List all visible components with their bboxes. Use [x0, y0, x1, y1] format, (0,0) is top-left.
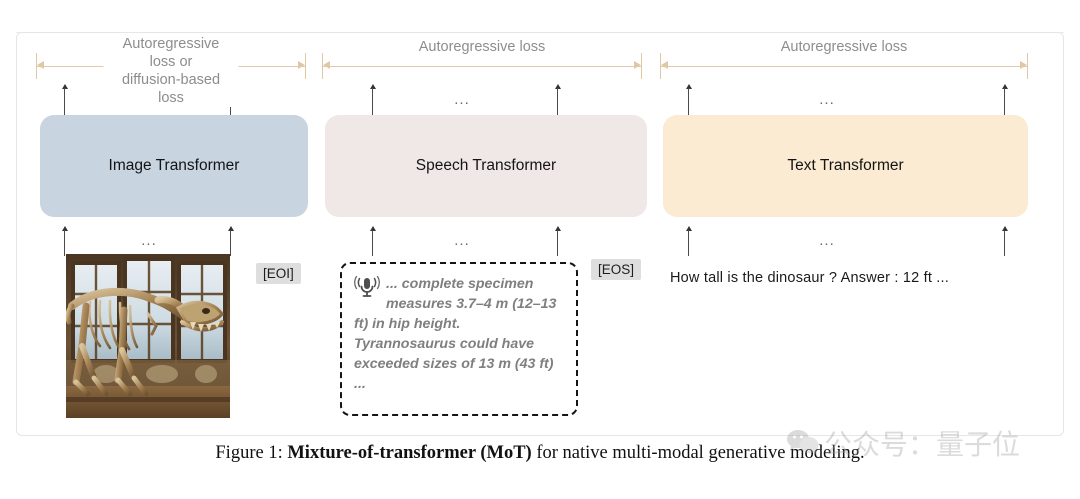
- bracket-text: [660, 53, 1028, 79]
- block-text-transformer[interactable]: Text Transformer: [663, 115, 1028, 217]
- token-end-of-image: [EOI]: [256, 263, 301, 284]
- bracket-arrowhead-right: [1020, 61, 1027, 69]
- loss-label-speech: Autoregressive loss: [412, 38, 553, 56]
- text-token-sequence: How tall is the dinosaur ? Answer : 12 f…: [670, 270, 949, 286]
- bracket-right-cap: [1027, 53, 1028, 79]
- block-speech-transformer[interactable]: Speech Transformer: [325, 115, 647, 217]
- arrow-shaft: [688, 88, 689, 115]
- arrow-shaft: [1004, 230, 1005, 256]
- figure-caption: Figure 1: Mixture-of-transformer (MoT) f…: [0, 443, 1080, 464]
- caption-bold: Mixture-of-transformer (MoT): [287, 443, 531, 463]
- arrow-shaft: [372, 88, 373, 115]
- ellipsis-speech-top: ...: [454, 91, 470, 108]
- bracket-arrowhead-left: [661, 61, 668, 69]
- loss-span-image: Autoregressive loss or diffusion-based l…: [36, 38, 306, 82]
- bracket-speech: [322, 53, 642, 79]
- loss-span-speech: Autoregressive loss: [322, 38, 642, 82]
- ellipsis-text-top: ...: [819, 91, 835, 108]
- block-speech-transformer-label: Speech Transformer: [416, 157, 556, 175]
- bracket-line: [661, 66, 1027, 67]
- bracket-arrowhead-left: [37, 61, 44, 69]
- microphone-icon: [354, 274, 380, 300]
- loss-span-text: Autoregressive loss: [660, 38, 1028, 82]
- arrow-shaft: [64, 88, 65, 115]
- loss-label-text: Autoregressive loss: [774, 38, 915, 56]
- arrow-shaft: [1004, 88, 1005, 115]
- arrow-shaft: [64, 230, 65, 256]
- block-image-transformer[interactable]: Image Transformer: [40, 115, 308, 217]
- bracket-right-cap: [305, 53, 306, 79]
- arrow-shaft: [557, 230, 558, 256]
- speech-transcript-box: ... complete specimen measures 3.7–4 m (…: [340, 262, 578, 416]
- arrow-shaft: [230, 230, 231, 256]
- bracket-right-cap: [641, 53, 642, 79]
- loss-label-image: Autoregressive loss or diffusion-based l…: [104, 35, 239, 107]
- block-image-transformer-label: Image Transformer: [109, 157, 240, 175]
- ellipsis-image-bottom: ...: [141, 232, 157, 249]
- bracket-line: [323, 66, 641, 67]
- ellipsis-text-bottom: ...: [819, 232, 835, 249]
- bracket-arrowhead-right: [634, 61, 641, 69]
- caption-prefix: Figure 1:: [215, 443, 287, 463]
- token-end-of-speech: [EOS]: [591, 259, 641, 280]
- bracket-arrowhead-right: [298, 61, 305, 69]
- arrow-shaft: [372, 230, 373, 256]
- arrow-shaft: [688, 230, 689, 256]
- ellipsis-speech-bottom: ...: [454, 232, 470, 249]
- figure-page: Autoregressive loss or diffusion-based l…: [0, 0, 1080, 499]
- bracket-arrowhead-left: [323, 61, 330, 69]
- dinosaur-photo: [66, 254, 230, 418]
- block-text-transformer-label: Text Transformer: [787, 157, 903, 175]
- caption-suffix: for native multi-modal generative modeli…: [532, 443, 865, 463]
- speech-transcript-text: ... complete specimen measures 3.7–4 m (…: [354, 274, 564, 394]
- arrow-shaft: [557, 88, 558, 115]
